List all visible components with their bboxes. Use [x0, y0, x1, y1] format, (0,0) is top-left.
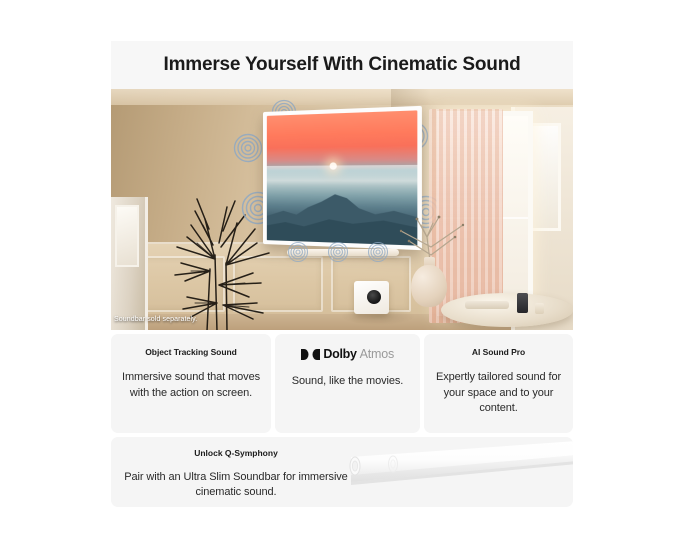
haze-layer [267, 164, 418, 186]
feature-card-dolby-atmos: Dolby Atmos Sound, like the movies. [275, 334, 420, 433]
feature-card-object-tracking-sound: Object Tracking Sound Immersive sound th… [111, 334, 271, 433]
content-column: Immerse Yourself With Cinematic Sound [111, 41, 573, 507]
soundbar-product-image [341, 439, 573, 507]
promo-page: Immerse Yourself With Cinematic Sound [0, 0, 684, 547]
card-body: Immersive sound that moves with the acti… [119, 370, 263, 401]
tray [465, 301, 509, 309]
speaker-cone [367, 290, 381, 304]
ceramic-vase [411, 265, 447, 307]
dolby-double-d-icon [301, 349, 321, 360]
page-title: Immerse Yourself With Cinematic Sound [163, 54, 520, 76]
card-body: Sound, like the movies. [292, 374, 403, 390]
candle [535, 303, 544, 314]
card-body: Pair with an Ultra Slim Soundbar for imm… [111, 470, 361, 501]
dolby-atmos-logo: Dolby Atmos [301, 347, 394, 361]
hero-disclaimer: Soundbar sold separately. [114, 316, 197, 323]
tv-mount-bar [287, 249, 399, 256]
title-band: Immerse Yourself With Cinematic Sound [111, 41, 573, 89]
hero-image: Soundbar sold separately. [111, 89, 573, 330]
feature-cards-row: Object Tracking Sound Immersive sound th… [111, 334, 573, 433]
card-title: Unlock Q-Symphony [111, 448, 361, 458]
card-title: Object Tracking Sound [145, 347, 237, 357]
atmos-wordmark: Atmos [360, 347, 394, 361]
left-doorway [111, 197, 148, 330]
dolby-wordmark: Dolby [323, 347, 356, 361]
round-table [441, 293, 573, 327]
card-title: AI Sound Pro [472, 347, 525, 357]
card-body: Expertly tailored sound for your space a… [432, 370, 565, 417]
ceiling [111, 89, 573, 105]
feature-card-ai-sound-pro: AI Sound Pro Expertly tailored sound for… [424, 334, 573, 433]
q-symphony-text-block: Unlock Q-Symphony Pair with an Ultra Sli… [111, 448, 361, 501]
q-symphony-card: Unlock Q-Symphony Pair with an Ultra Sli… [111, 437, 573, 507]
phone-on-table [517, 293, 528, 313]
door-glass-pane [115, 205, 139, 267]
